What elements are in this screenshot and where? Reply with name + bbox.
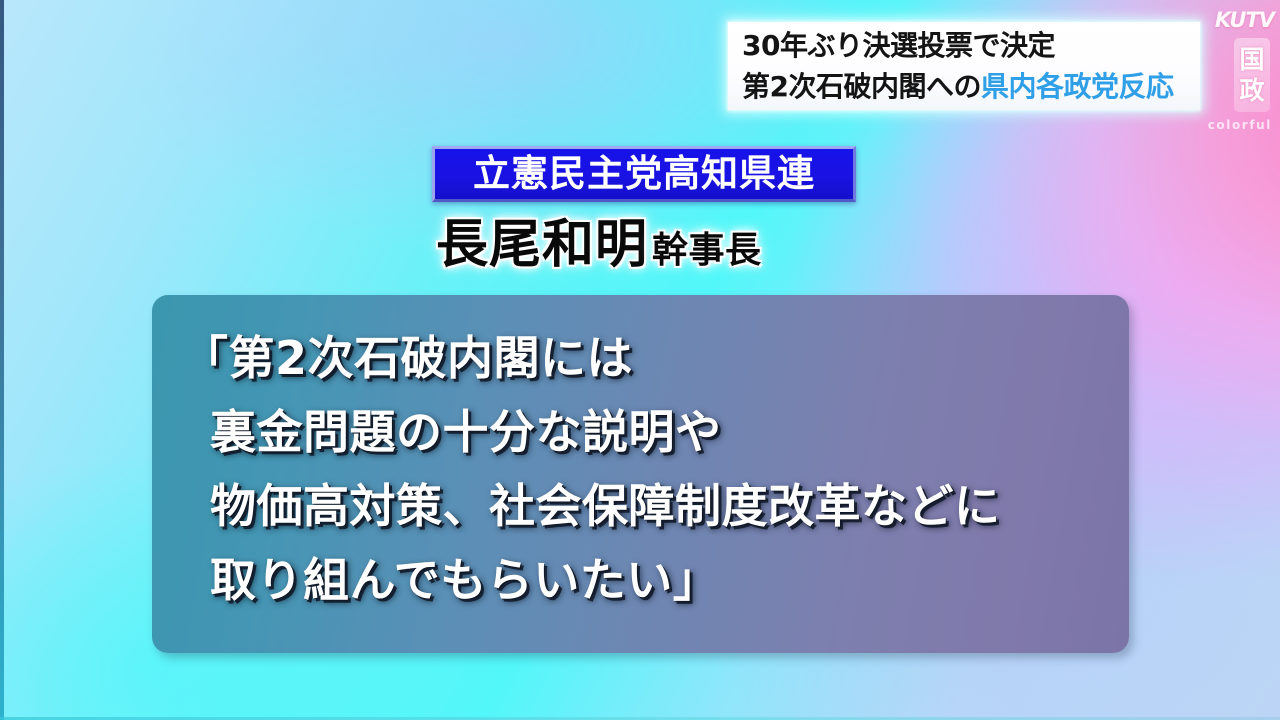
- quote-panel: 「第2次石破内閣には 裏金問題の十分な説明や 物価高対策、社会保障制度改革などに…: [152, 295, 1129, 653]
- headline-line-2-accent: 県内各政党反応: [981, 70, 1174, 103]
- speaker-nameline: 長尾和明 幹事長: [436, 216, 762, 274]
- affiliation-label: 立憲民主党高知県連: [473, 154, 815, 194]
- headline-banner: 30年ぶり決選投票で決定 第2次石破内閣への県内各政党反応: [728, 22, 1200, 110]
- headline-line-1: 30年ぶり決選投票で決定: [742, 25, 1190, 66]
- broadcast-graphic: 30年ぶり決選投票で決定 第2次石破内閣への県内各政党反応 KUTV 国 政 c…: [0, 0, 1280, 720]
- affiliation-plate: 立憲民主党高知県連: [432, 146, 856, 202]
- speaker-name: 長尾和明: [436, 216, 648, 274]
- background-left-edge: [0, 0, 4, 720]
- speaker-title: 幹事長: [652, 231, 762, 271]
- quote-line-2: 裏金問題の十分な説明や: [182, 395, 1099, 469]
- headline-line-2: 第2次石破内閣への県内各政党反応: [742, 66, 1190, 107]
- quote-line-3: 物価高対策、社会保障制度改革などに: [182, 469, 1099, 543]
- headline-line-2-plain: 第2次石破内閣への: [742, 70, 981, 103]
- quote-line-1: 「第2次石破内閣には: [182, 321, 1099, 395]
- quote-line-4: 取り組んでもらいたい」: [182, 543, 1099, 617]
